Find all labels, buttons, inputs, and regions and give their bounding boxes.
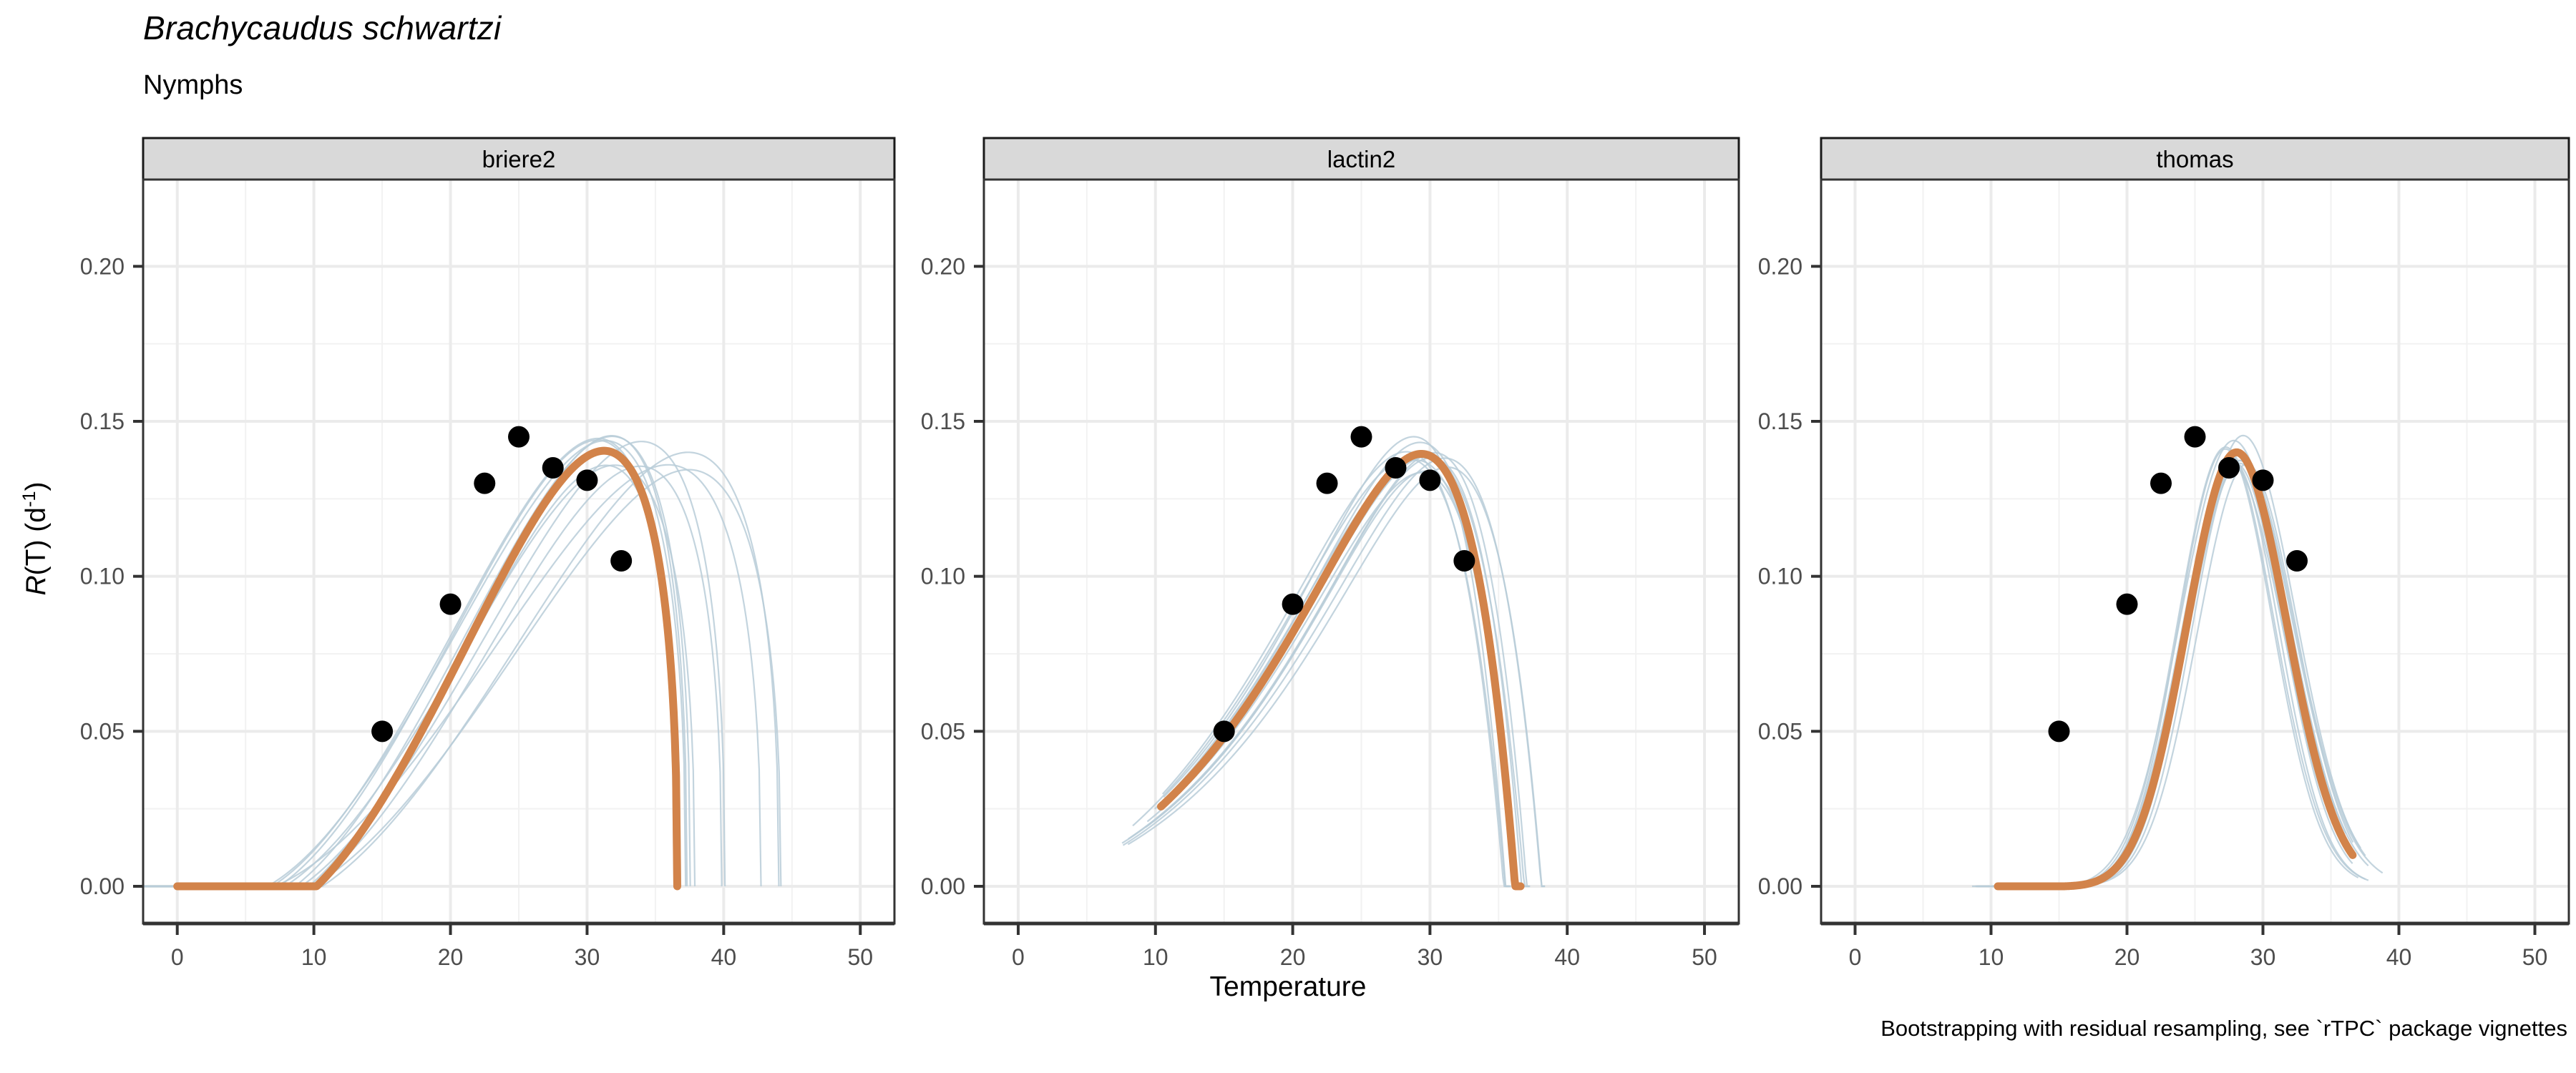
x-tick-label: 10 <box>1979 944 2004 970</box>
data-point <box>474 473 495 494</box>
facet-strip-label-thomas: thomas <box>2156 146 2233 172</box>
data-point <box>1419 469 1440 491</box>
data-point <box>576 469 597 491</box>
y-tick-label: 0.20 <box>1758 253 1802 279</box>
data-point <box>2049 720 2070 742</box>
data-point <box>1282 594 1304 615</box>
y-tick-label: 0.10 <box>80 564 125 589</box>
x-tick-label: 50 <box>2522 944 2548 970</box>
x-tick-label: 50 <box>847 944 873 970</box>
x-tick-label: 20 <box>1280 944 1306 970</box>
y-tick-label: 0.05 <box>921 718 965 744</box>
y-tick-label: 0.15 <box>1758 408 1802 434</box>
data-point <box>1453 550 1475 572</box>
data-point <box>610 550 632 572</box>
facet-panels: briere20.000.050.100.150.2001020304050la… <box>0 0 2576 1073</box>
data-point <box>2117 594 2138 615</box>
facet-panel-lactin2: lactin20.000.050.100.150.2001020304050 <box>921 138 1739 970</box>
y-tick-label: 0.10 <box>921 564 965 589</box>
data-point <box>1214 720 1235 742</box>
plot-caption: Bootstrapping with residual resampling, … <box>1880 1016 2567 1042</box>
y-tick-label: 0.15 <box>921 408 965 434</box>
x-tick-label: 40 <box>1554 944 1580 970</box>
data-point <box>508 426 530 448</box>
y-tick-label: 0.00 <box>921 873 965 899</box>
x-axis-title: Temperature <box>0 971 2576 1003</box>
x-tick-label: 50 <box>1692 944 1717 970</box>
data-point <box>2185 426 2206 448</box>
facet-panel-thomas: thomas0.000.050.100.150.2001020304050 <box>1758 138 2569 970</box>
chart-root: Brachycaudus schwartzi Nymphs R(T) (d-1)… <box>0 0 2576 1073</box>
x-tick-label: 30 <box>2250 944 2276 970</box>
data-point <box>2253 469 2274 491</box>
data-point <box>542 457 564 479</box>
x-tick-label: 0 <box>171 944 184 970</box>
x-tick-label: 40 <box>2386 944 2412 970</box>
x-tick-label: 10 <box>1143 944 1169 970</box>
x-tick-label: 10 <box>301 944 327 970</box>
y-tick-label: 0.10 <box>1758 564 1802 589</box>
data-point <box>2286 550 2308 572</box>
y-tick-label: 0.00 <box>1758 873 1802 899</box>
facet-strip-label-briere2: briere2 <box>482 146 556 172</box>
data-point <box>1351 426 1372 448</box>
y-tick-label: 0.15 <box>80 408 125 434</box>
x-tick-label: 40 <box>711 944 737 970</box>
y-tick-label: 0.00 <box>80 873 125 899</box>
data-point <box>1317 473 1338 494</box>
facet-panel-briere2: briere20.000.050.100.150.2001020304050 <box>80 138 894 970</box>
y-tick-label: 0.20 <box>80 253 125 279</box>
data-point <box>371 720 393 742</box>
y-tick-label: 0.20 <box>921 253 965 279</box>
data-point <box>2150 473 2172 494</box>
data-point <box>1385 457 1406 479</box>
x-tick-label: 30 <box>1418 944 1443 970</box>
x-tick-label: 30 <box>575 944 600 970</box>
data-point <box>440 594 462 615</box>
x-tick-label: 20 <box>438 944 464 970</box>
x-tick-label: 0 <box>1012 944 1025 970</box>
facet-strip-label-lactin2: lactin2 <box>1327 146 1395 172</box>
x-tick-label: 20 <box>2114 944 2140 970</box>
y-tick-label: 0.05 <box>1758 718 1802 744</box>
y-tick-label: 0.05 <box>80 718 125 744</box>
data-point <box>2218 457 2240 479</box>
x-tick-label: 0 <box>1849 944 1862 970</box>
